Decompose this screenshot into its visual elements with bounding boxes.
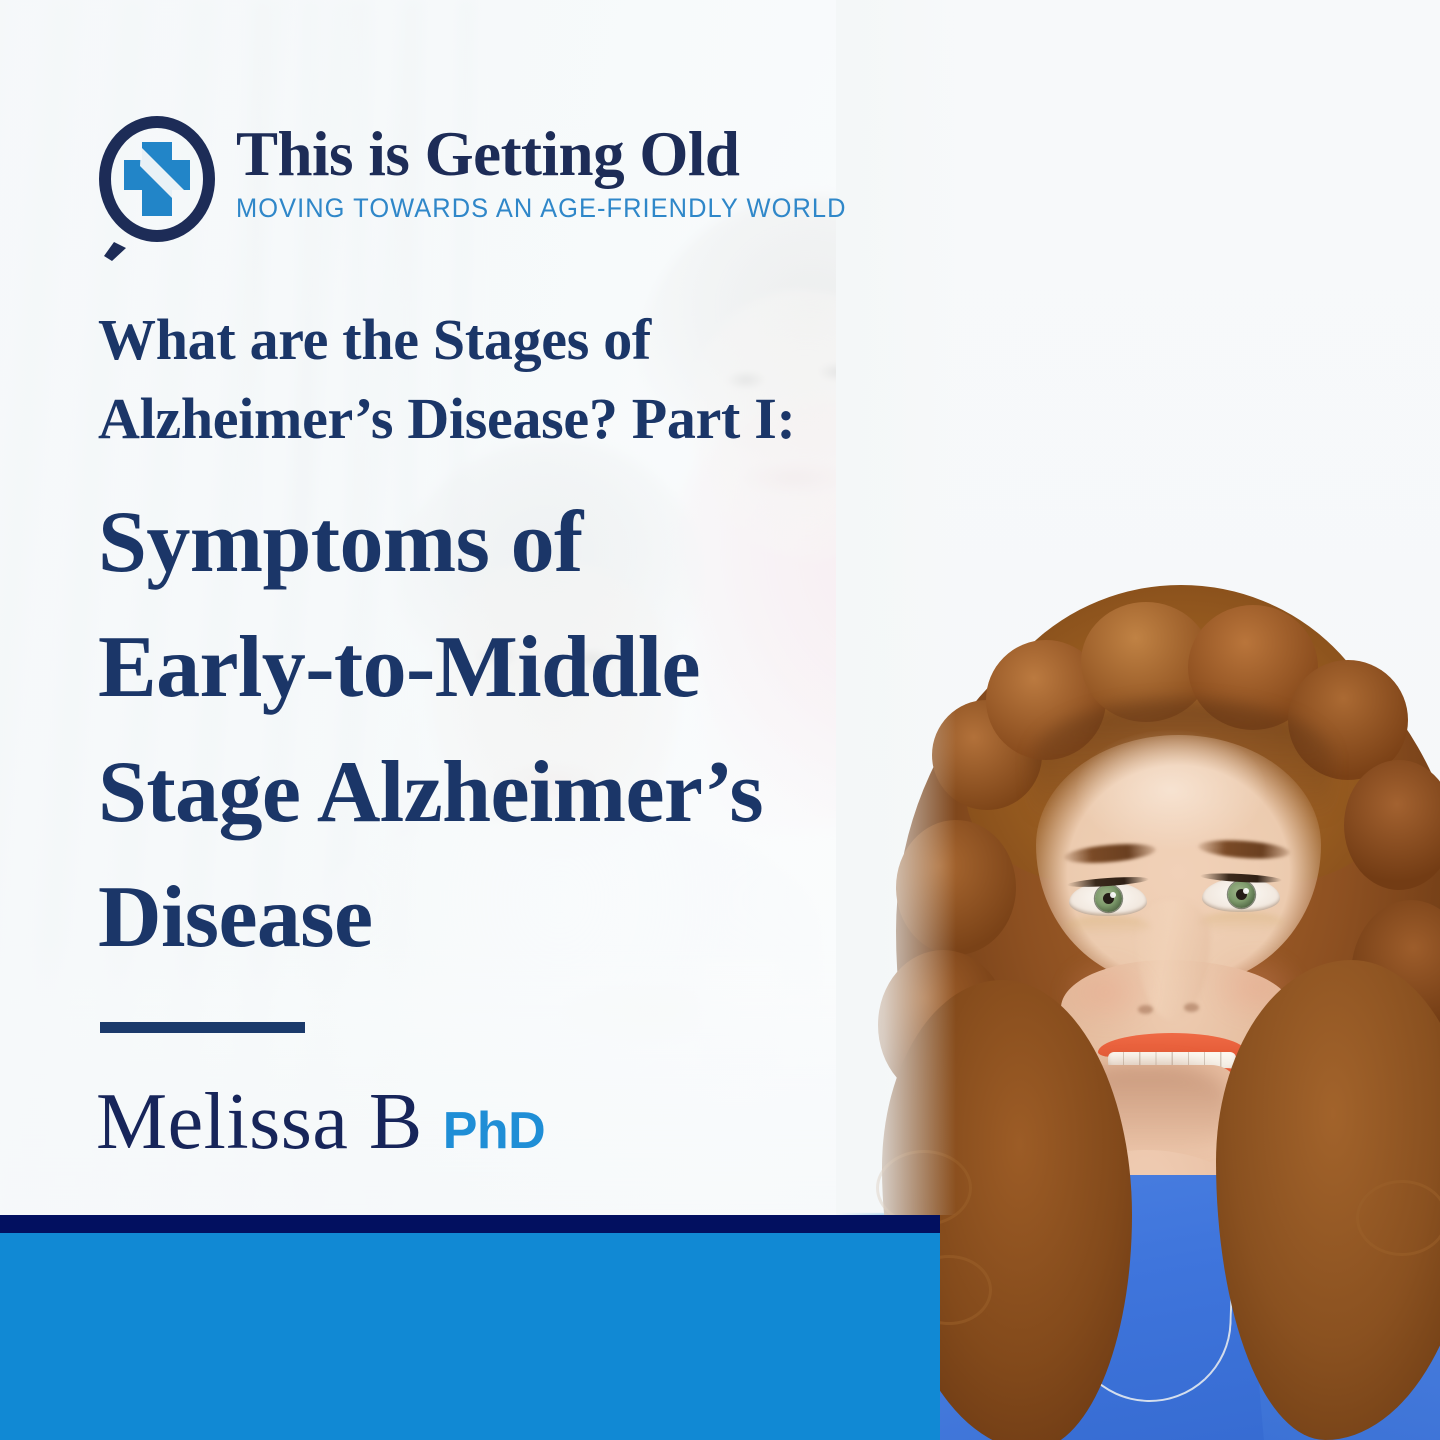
hair-wisp [1356,1180,1440,1256]
footer-navy-bar [0,1215,940,1233]
headline-main: Symptoms of Early-to-Middle Stage Alzhei… [98,481,958,981]
headline-kicker-line: Alzheimer’s Disease? Part I: [98,379,958,458]
magnifier-medical-cross-icon [96,116,218,261]
under-eye-shadow-right [1198,912,1284,932]
headline-main-line: Early-to-Middle [98,606,958,731]
byline-divider [100,1022,305,1033]
headline-main-line: Symptoms of [98,481,958,606]
social-graphic-canvas: This is Getting Old MOVING TOWARDS AN AG… [0,0,1440,1440]
eye-right [1202,878,1280,912]
eye-glint-left [1110,892,1116,898]
eye-left [1069,882,1147,916]
headline-kicker: What are the Stages of Alzheimer’s Disea… [98,300,958,459]
headline-main-line: Stage Alzheimer’s [98,731,958,856]
headline-main-line: Disease [98,856,958,981]
author-degree: PhD [443,1105,546,1157]
author-byline: Melissa B PhD [96,1082,545,1162]
iris-left [1095,885,1122,912]
headline-kicker-line: What are the Stages of [98,300,958,379]
footer-blue-bar [0,1233,940,1440]
forehead-highlight [1076,730,1266,850]
author-name: Melissa B [96,1082,423,1162]
site-logo[interactable]: This is Getting Old MOVING TOWARDS AN AG… [96,116,872,261]
logo-wordmark: This is Getting Old MOVING TOWARDS AN AG… [236,116,872,224]
nostril-right [1184,1003,1199,1012]
logo-title: This is Getting Old [236,124,872,184]
iris-right [1228,881,1255,908]
eye-glint-right [1243,888,1249,894]
logo-tagline: MOVING TOWARDS AN AGE-FRIENDLY WORLD [236,193,847,224]
headline-block: What are the Stages of Alzheimer’s Disea… [98,300,958,981]
